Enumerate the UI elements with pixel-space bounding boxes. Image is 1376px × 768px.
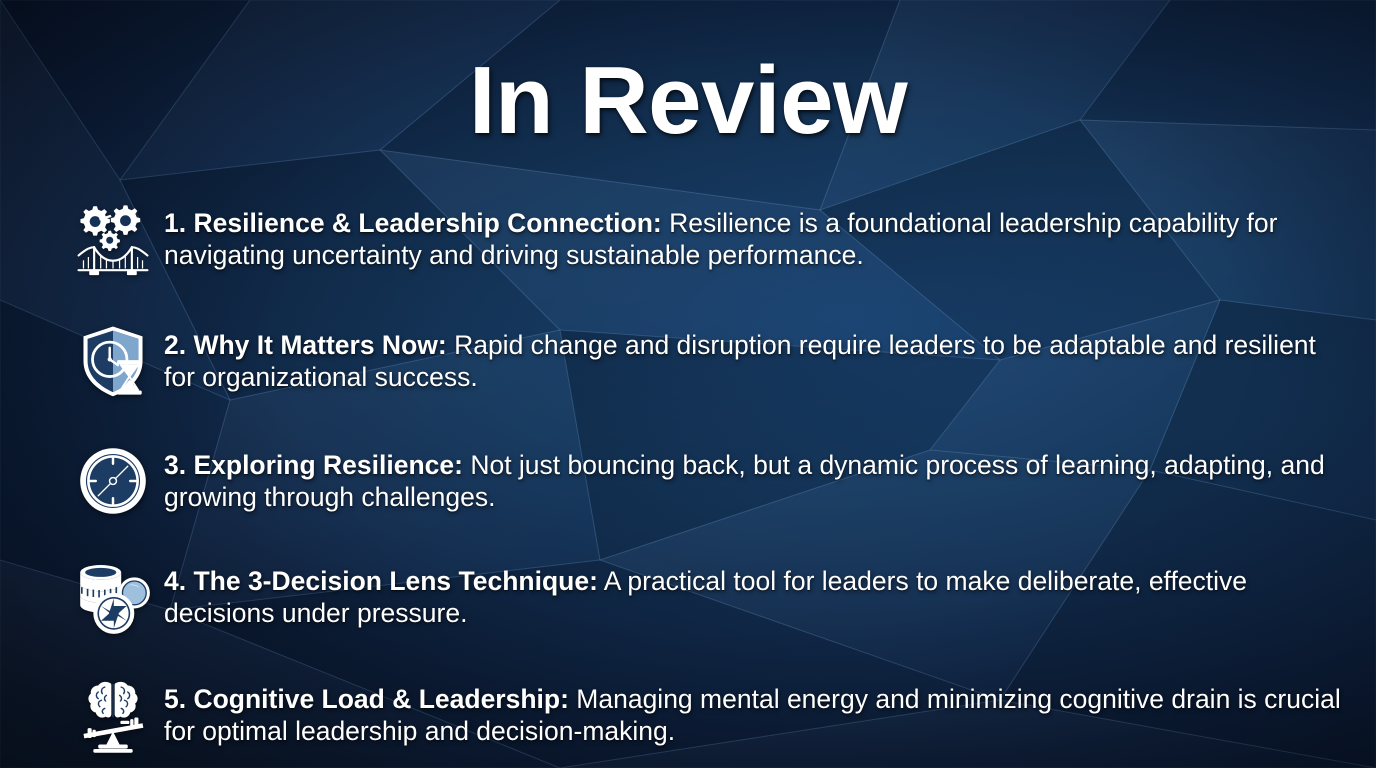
compass-icon: [62, 438, 164, 536]
list-item-text: 3. Exploring Resilience: Not just bounci…: [164, 438, 1350, 513]
list-item: 5. Cognitive Load & Leadership: Managing…: [62, 672, 1350, 768]
list-item-lead: 4. The 3-Decision Lens Technique:: [164, 566, 598, 596]
list-item: 4. The 3-Decision Lens Technique: A prac…: [62, 554, 1350, 652]
list-item-text: 1. Resilience & Leadership Connection: R…: [164, 196, 1350, 271]
list-item-lead: 2. Why It Matters Now:: [164, 330, 447, 360]
list-item: 3. Exploring Resilience: Not just bounci…: [62, 438, 1350, 536]
gears-bridge-icon: [62, 196, 164, 294]
list-item-text: 4. The 3-Decision Lens Technique: A prac…: [164, 554, 1350, 629]
list-item-lead: 3. Exploring Resilience:: [164, 450, 463, 480]
list-item: 2. Why It Matters Now: Rapid change and …: [62, 318, 1350, 416]
list-item-text: 2. Why It Matters Now: Rapid change and …: [164, 318, 1350, 393]
camera-lens-aperture-icon: [62, 554, 164, 652]
brain-balance-icon: [62, 672, 164, 768]
bullet-list: 1. Resilience & Leadership Connection: R…: [62, 196, 1350, 768]
list-item-text: 5. Cognitive Load & Leadership: Managing…: [164, 672, 1350, 747]
page-title: In Review: [0, 48, 1376, 154]
presentation-slide: In Review: [0, 0, 1376, 768]
list-item-lead: 1. Resilience & Leadership Connection:: [164, 208, 662, 238]
list-item: 1. Resilience & Leadership Connection: R…: [62, 196, 1350, 294]
shield-clock-hourglass-icon: [62, 318, 164, 416]
list-item-lead: 5. Cognitive Load & Leadership:: [164, 684, 569, 714]
